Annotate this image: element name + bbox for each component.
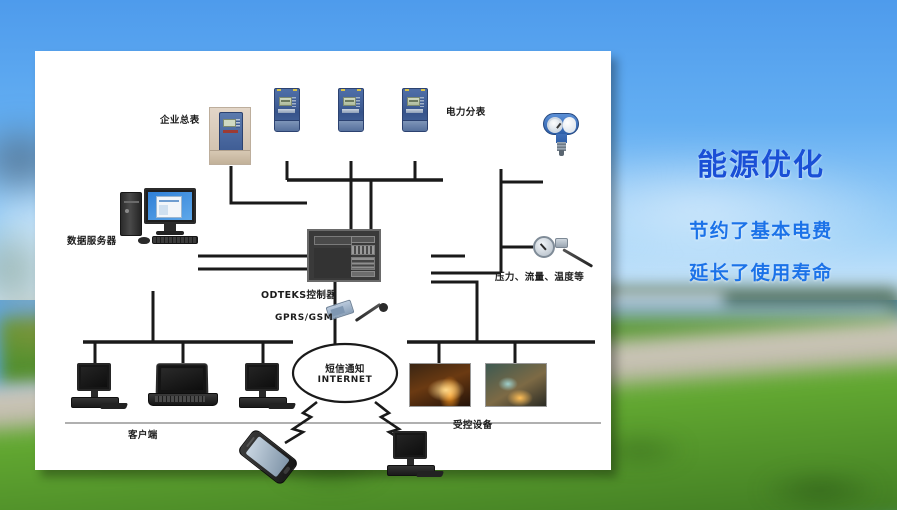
meter-clip-left — [341, 88, 345, 91]
meter-clip-right — [357, 88, 361, 91]
network-topology-diagram: 企业总表 电力分表 — [35, 51, 611, 470]
meter-clip-left — [277, 88, 281, 91]
monitor-screen — [148, 192, 192, 220]
keyboard — [416, 471, 444, 477]
page-title: 能源优化 — [628, 140, 894, 184]
meter-buttons — [356, 97, 360, 107]
workstation-monitor — [393, 431, 427, 459]
software-window — [156, 196, 182, 218]
label-sms-notification: 短信通知 — [316, 361, 374, 375]
meter-label-strip — [342, 109, 359, 113]
meter-clip-right — [293, 88, 297, 91]
client-workstation-1 — [71, 363, 123, 411]
power-sub-meter-1 — [274, 88, 300, 132]
transmitter-cap — [563, 117, 576, 133]
meter-clip-left — [405, 88, 409, 91]
meter-lcd — [407, 97, 420, 106]
label-controlled-equipment: 受控设备 — [453, 417, 493, 431]
laptop-screen — [156, 363, 209, 395]
keyboard — [268, 403, 296, 409]
optical-drive — [124, 201, 139, 203]
pressure-transmitter — [543, 113, 587, 161]
controller-display — [314, 236, 352, 245]
antenna-base — [379, 303, 388, 312]
bullet-1: 节约了基本电费 — [628, 216, 894, 243]
controlled-equipment-photo-2 — [485, 363, 547, 407]
meter-terminal-cover — [339, 120, 363, 131]
meter-buttons — [236, 119, 240, 128]
remote-desktop — [387, 431, 439, 479]
laptop-keyboard — [148, 393, 218, 406]
power-button-icon — [125, 209, 129, 213]
meter-terminal-cover — [403, 120, 427, 131]
workstation-monitor — [245, 363, 279, 391]
label-enterprise-main-meter: 企业总表 — [160, 112, 200, 126]
keyboard — [100, 403, 128, 409]
probe-stem — [562, 248, 593, 268]
controlled-equipment-photo-1 — [409, 363, 471, 407]
meter-label-strip — [223, 130, 238, 133]
odteks-controller — [307, 229, 381, 282]
probe-head — [555, 238, 568, 248]
monitor-stand — [164, 224, 176, 231]
diagram-panel: 企业总表 电力分表 — [35, 51, 611, 470]
label-sensors: 压力、流量、温度等 — [495, 269, 584, 283]
controller-io-module — [351, 257, 375, 270]
label-data-server: 数据服务器 — [67, 233, 117, 247]
monitor-base — [156, 231, 184, 235]
wall-sill — [210, 150, 250, 164]
meter-face — [219, 112, 243, 152]
bullet-2: 延长了使用寿命 — [628, 258, 894, 285]
label-controller: ODTEKS控制器 — [261, 287, 336, 301]
power-sub-meter-3 — [402, 88, 428, 132]
power-sub-meter-2 — [338, 88, 364, 132]
meter-lcd — [223, 119, 236, 127]
meter-terminal-cover — [275, 120, 299, 131]
controller-module-top — [351, 236, 375, 243]
transmitter-housing — [543, 113, 579, 135]
label-clients: 客户端 — [128, 427, 158, 441]
meter-lcd — [279, 97, 292, 106]
server-monitor — [144, 188, 196, 224]
controller-terminal-block — [351, 245, 375, 255]
transmitter-tip — [559, 150, 564, 156]
gprs-gsm-modem — [327, 303, 397, 333]
label-internet: INTERNET — [316, 375, 374, 385]
meter-label-strip — [278, 109, 295, 113]
pressure-gauge — [533, 236, 555, 258]
controller-keypad — [351, 271, 375, 277]
meter-lcd — [343, 97, 356, 106]
meter-buttons — [292, 97, 296, 107]
mouse — [138, 237, 150, 244]
slide-copy: 能源优化 节约了基本电费 延长了使用寿命 — [628, 140, 894, 285]
enterprise-main-meter — [209, 107, 251, 165]
keyboard — [152, 236, 198, 244]
meter-buttons — [420, 97, 424, 107]
workstation-monitor — [77, 363, 111, 391]
client-laptop — [148, 363, 220, 411]
controller-body — [314, 248, 352, 278]
antenna-rod — [355, 303, 382, 322]
label-power-sub-meter: 电力分表 — [446, 104, 486, 118]
data-server — [120, 186, 206, 248]
transmitter-dial — [547, 117, 563, 133]
meter-clip-right — [421, 88, 425, 91]
mobile-phone — [253, 429, 317, 477]
label-gprs-gsm: GPRS/GSM — [275, 313, 333, 323]
client-workstation-2 — [239, 363, 291, 411]
server-tower — [120, 192, 142, 236]
meter-label-strip — [406, 109, 423, 113]
